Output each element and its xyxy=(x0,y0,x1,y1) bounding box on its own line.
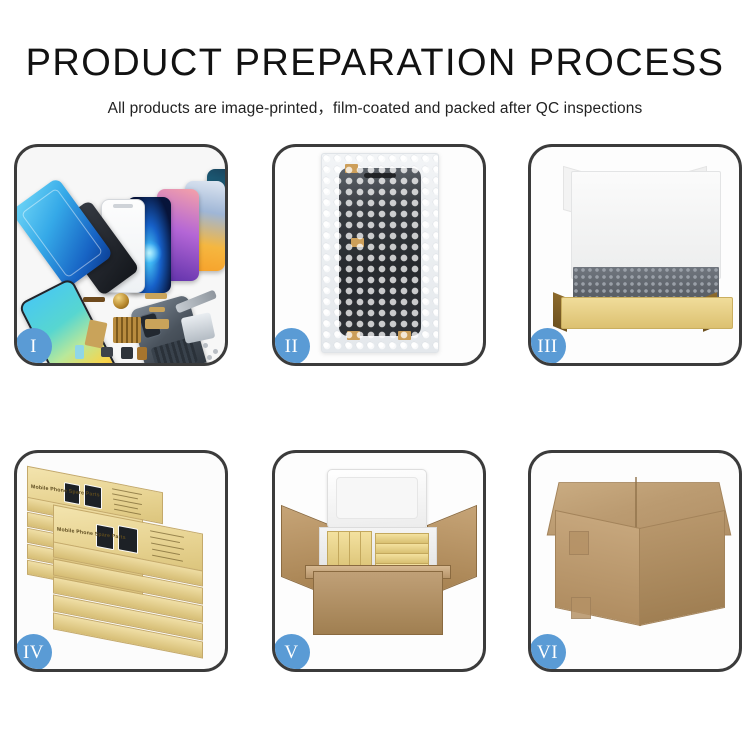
step-1-illustration xyxy=(17,147,225,363)
carton-left-face xyxy=(555,510,641,626)
opening-tool-icon xyxy=(181,312,216,344)
carton-right-face xyxy=(639,510,725,626)
spec-line-b5 xyxy=(114,509,141,516)
product-preparation-page: PRODUCT PREPARATION PROCESS All products… xyxy=(0,0,750,750)
small-chip-1 xyxy=(83,297,105,302)
battery-connector xyxy=(75,345,84,359)
step-card-1[interactable]: I xyxy=(14,144,228,366)
step-card-3[interactable]: III xyxy=(528,144,742,366)
step-card-2[interactable]: II xyxy=(272,144,486,366)
flex-cable-1 xyxy=(145,293,167,299)
flex-cable-2 xyxy=(149,307,165,312)
step-badge-1: I xyxy=(15,328,52,365)
step-4-illustration: Mobile Phone Spare Parts xyxy=(17,453,225,669)
box-front-kraft xyxy=(561,297,733,329)
step-badge-5: V xyxy=(273,634,310,671)
box-back-panel xyxy=(571,171,721,279)
step-badge-6: VI xyxy=(529,634,566,671)
carton-tape-lower xyxy=(571,597,591,619)
box-stack: Mobile Phone Spare Parts xyxy=(25,471,221,643)
spec-line-f4 xyxy=(152,549,180,556)
step-2-illustration xyxy=(275,147,483,363)
step-card-4[interactable]: Mobile Phone Spare Parts xyxy=(14,450,228,672)
foam-lid xyxy=(327,469,427,529)
screw-3 xyxy=(207,355,212,360)
box-label-text-front: Mobile Phone Spare Parts xyxy=(57,527,126,542)
step-badge-3: III xyxy=(529,328,566,365)
flex-cable-4 xyxy=(145,319,169,329)
tweezers-icon xyxy=(175,289,217,313)
step-6-illustration xyxy=(531,453,739,669)
spec-line-f5 xyxy=(152,555,183,562)
bubble-wrap-bag xyxy=(321,153,439,353)
process-step-grid: I II xyxy=(0,0,750,750)
vibration-motor xyxy=(121,347,133,359)
screw-2 xyxy=(213,349,218,354)
step-3-illustration xyxy=(531,147,739,363)
step-badge-4: IV xyxy=(15,634,52,671)
step-badge-2: II xyxy=(273,328,310,365)
step-card-6[interactable]: VI xyxy=(528,450,742,672)
step-card-5[interactable]: V xyxy=(272,450,486,672)
bubble-overlay xyxy=(322,154,438,352)
chip-grid-part xyxy=(113,317,141,343)
screw-1 xyxy=(203,343,208,348)
grey-foam-padding xyxy=(573,267,719,299)
carton-front-panel xyxy=(313,571,443,635)
carton-tape-upper xyxy=(569,531,589,555)
sim-tray xyxy=(137,347,147,360)
step-5-illustration xyxy=(275,453,483,669)
camera-module xyxy=(101,347,113,357)
speaker-part-icon xyxy=(113,293,129,309)
